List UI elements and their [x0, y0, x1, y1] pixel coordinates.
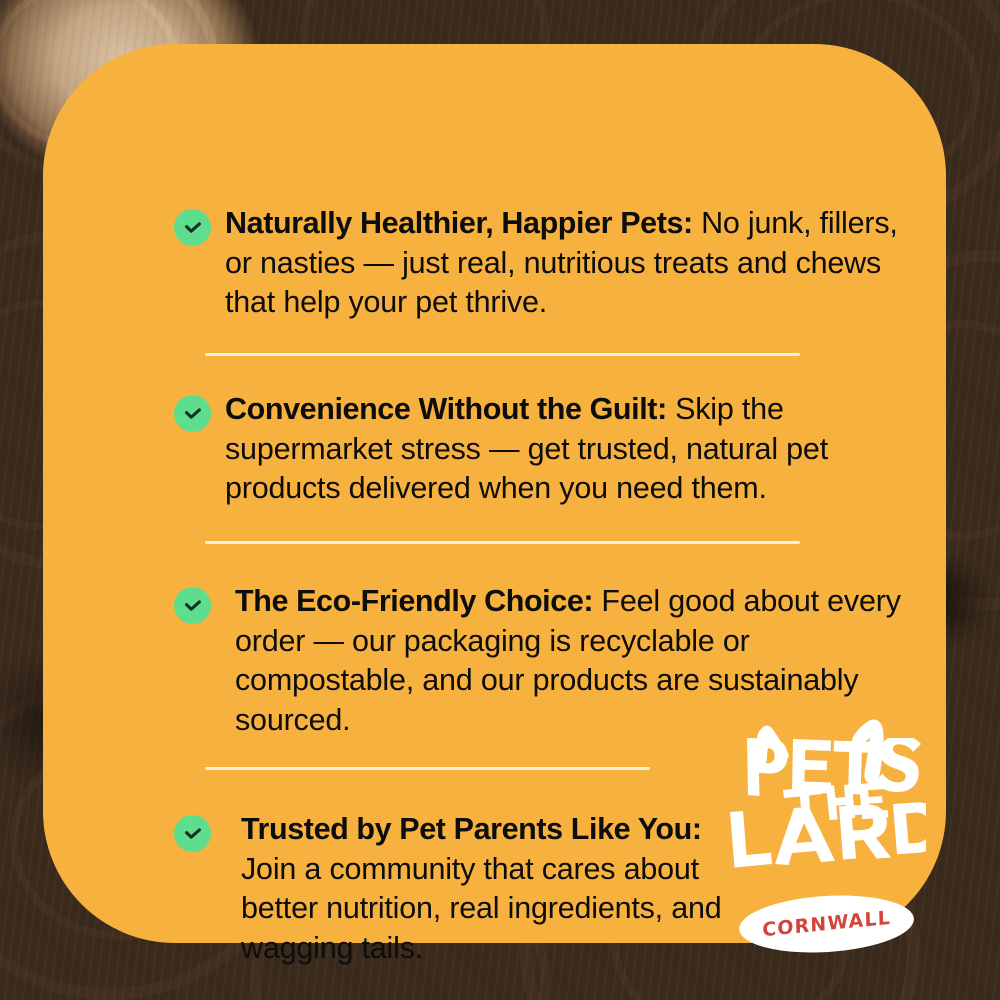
benefit-body-4: Join a community that cares about better… — [241, 852, 722, 965]
check-circle-icon — [174, 395, 211, 432]
check-circle-icon — [174, 815, 211, 852]
divider-1 — [205, 353, 800, 356]
benefit-text-2: Convenience Without the Guilt: Skip the … — [225, 390, 914, 509]
benefit-heading-2: Convenience Without the Guilt: — [225, 392, 667, 426]
benefit-item-2: Convenience Without the Guilt: Skip the … — [174, 390, 914, 509]
divider-3 — [205, 767, 650, 770]
brand-logo: CORNWALL — [726, 698, 926, 973]
benefit-text-1: Naturally Healthier, Happier Pets: No ju… — [225, 204, 914, 323]
benefits-list: Naturally Healthier, Happier Pets: No ju… — [43, 122, 946, 943]
cornwall-badge: CORNWALL — [737, 891, 915, 958]
divider-2 — [205, 541, 800, 544]
check-circle-icon — [174, 209, 211, 246]
check-circle-icon — [174, 587, 211, 624]
benefit-heading-3: The Eco-Friendly Choice: — [235, 584, 593, 618]
benefit-text-4: Trusted by Pet Parents Like You: Join a … — [241, 810, 734, 968]
benefit-heading-4: Trusted by Pet Parents Like You: — [241, 812, 702, 846]
logo-lines-pets-larder — [726, 738, 926, 878]
cornwall-badge-label: CORNWALL — [762, 907, 891, 941]
benefit-heading-1: Naturally Healthier, Happier Pets: — [225, 206, 693, 240]
benefits-card: Naturally Healthier, Happier Pets: No ju… — [43, 44, 946, 943]
logo-line-larder — [730, 802, 926, 867]
logo-line-pets — [747, 738, 921, 796]
benefit-item-1: Naturally Healthier, Happier Pets: No ju… — [174, 204, 914, 323]
benefit-item-4: Trusted by Pet Parents Like You: Join a … — [174, 810, 734, 968]
